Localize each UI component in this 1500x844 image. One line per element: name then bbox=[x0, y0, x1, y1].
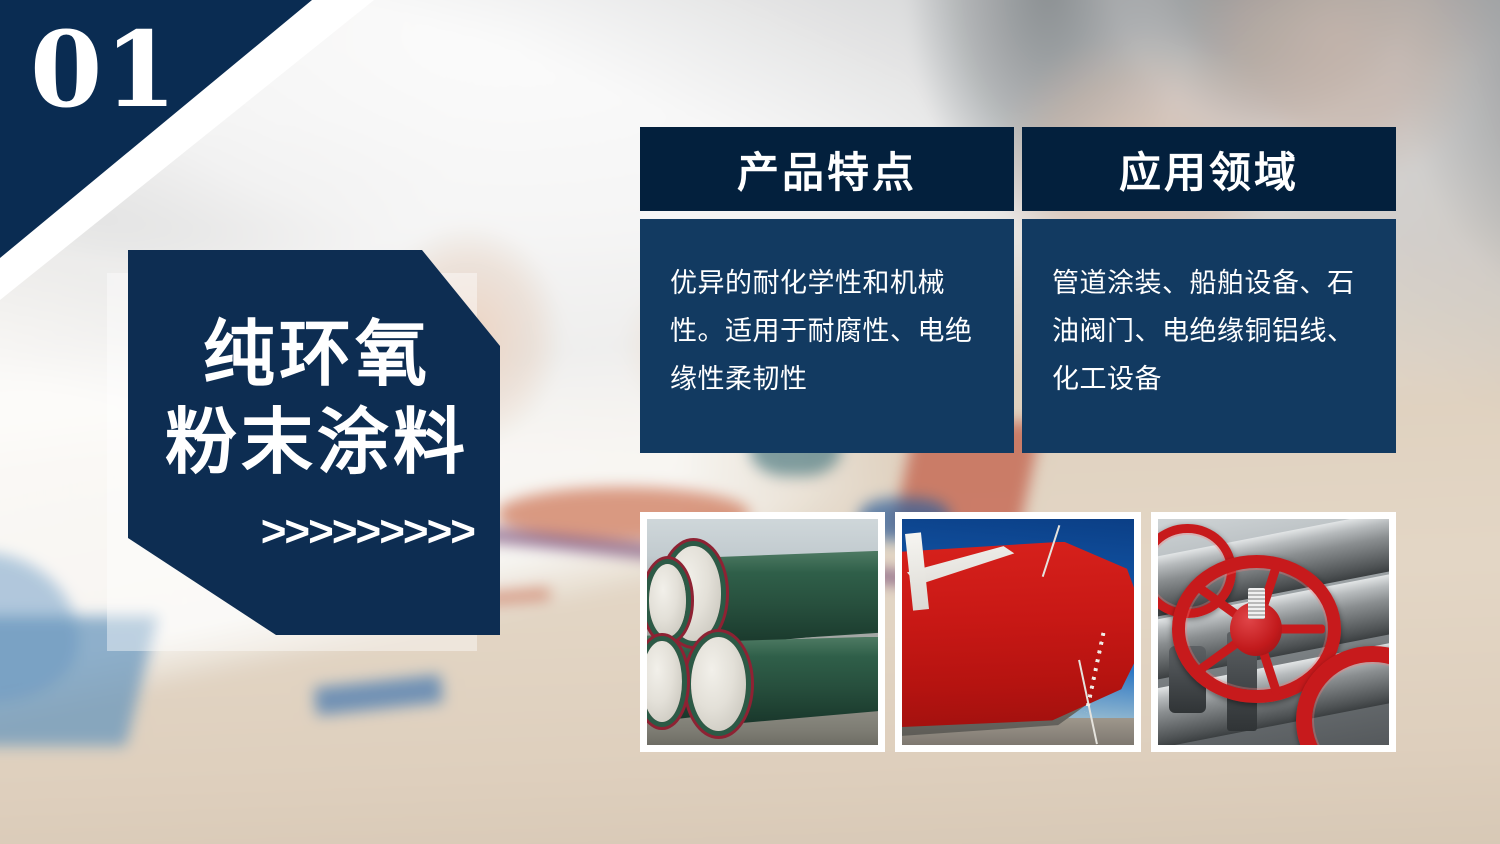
panel-header-text: 产品特点 bbox=[737, 139, 917, 200]
panel-product-features: 产品特点 优异的耐化学性和机械性。适用于耐腐性、电绝缘性柔韧性 bbox=[640, 127, 1014, 453]
panel-header-text: 应用领域 bbox=[1119, 139, 1299, 200]
panel-body-product-features: 优异的耐化学性和机械性。适用于耐腐性、电绝缘性柔韧性 bbox=[640, 219, 1014, 453]
photo-frame-red-ship-hull bbox=[895, 512, 1140, 752]
panel-header-product-features: 产品特点 bbox=[640, 127, 1014, 211]
panel-application-fields: 应用领域 管道涂装、船舶设备、石油阀门、电绝缘铜铝线、化工设备 bbox=[1022, 127, 1396, 453]
valve-stem bbox=[1248, 588, 1265, 620]
info-panels: 产品特点 优异的耐化学性和机械性。适用于耐腐性、电绝缘性柔韧性 应用领域 管道涂… bbox=[640, 127, 1396, 453]
photo-red-valve-handwheels bbox=[1158, 519, 1389, 745]
photo-strip bbox=[640, 512, 1396, 752]
slide-root: 01 纯环氧 粉末涂料 >>>>>>>>> 产品特点 优异的耐化学性和机械性。适… bbox=[0, 0, 1500, 844]
panel-body-text: 优异的耐化学性和机械性。适用于耐腐性、电绝缘性柔韧性 bbox=[670, 259, 986, 403]
photo-frame-red-valve-handwheels bbox=[1151, 512, 1396, 752]
chevron-arrows-icon: >>>>>>>>> bbox=[128, 510, 500, 554]
photo-red-ship-hull bbox=[902, 519, 1133, 745]
panel-header-application-fields: 应用领域 bbox=[1022, 127, 1396, 211]
photo-coated-steel-pipes bbox=[647, 519, 878, 745]
slide-number: 01 bbox=[30, 18, 179, 122]
title-line-1: 纯环氧 bbox=[128, 312, 500, 400]
title-line-2: 粉末涂料 bbox=[128, 400, 500, 488]
panel-body-application-fields: 管道涂装、船舶设备、石油阀门、电绝缘铜铝线、化工设备 bbox=[1022, 219, 1396, 453]
panel-body-text: 管道涂装、船舶设备、石油阀门、电绝缘铜铝线、化工设备 bbox=[1052, 259, 1368, 403]
photo-frame-coated-steel-pipes bbox=[640, 512, 885, 752]
pipe-face-back bbox=[649, 564, 686, 636]
